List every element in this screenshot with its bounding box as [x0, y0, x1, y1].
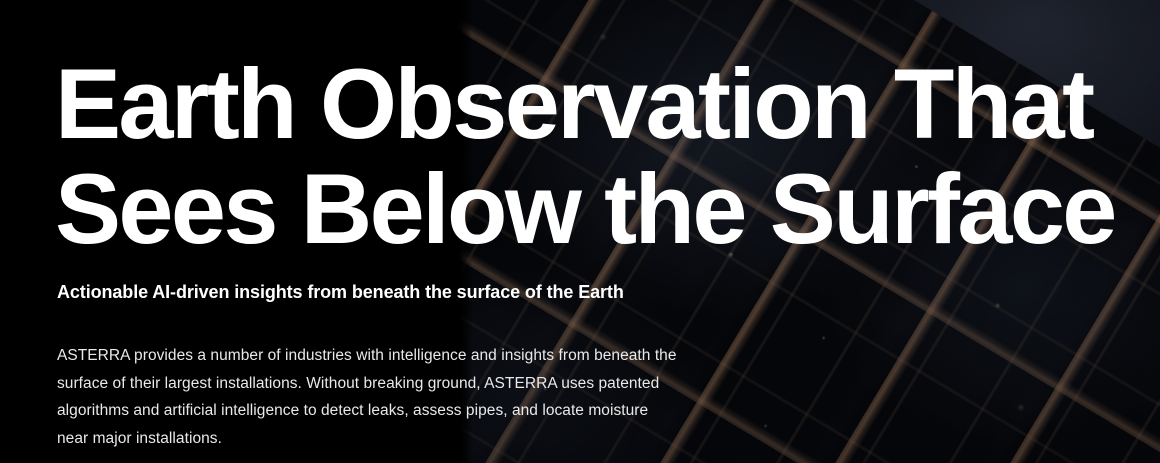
hero-content: Earth Observation That Sees Below the Su… — [0, 0, 1160, 463]
page-title: Earth Observation That Sees Below the Su… — [55, 51, 1155, 261]
hero-section: Earth Observation That Sees Below the Su… — [0, 0, 1160, 463]
hero-body-paragraph: ASTERRA provides a number of industries … — [57, 342, 682, 452]
hero-subheadline: Actionable AI-driven insights from benea… — [57, 279, 677, 306]
